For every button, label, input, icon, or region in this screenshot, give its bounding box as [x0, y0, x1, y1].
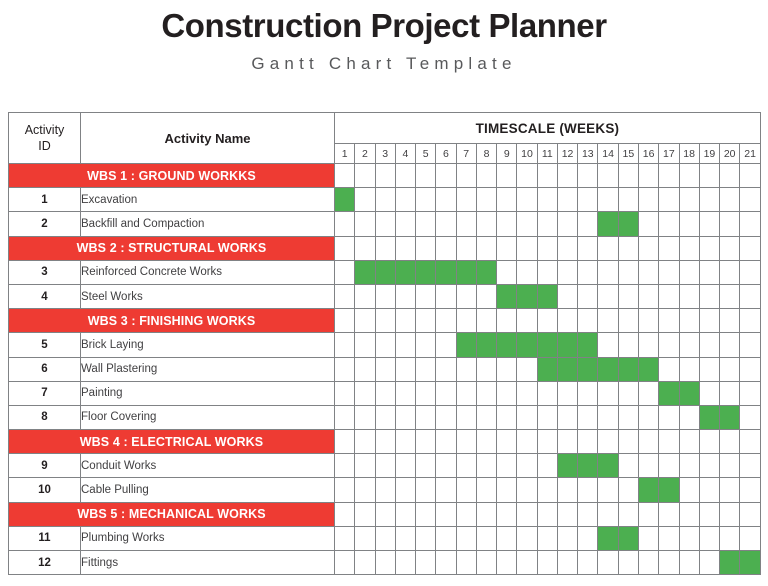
timeline-cell[interactable] [659, 405, 679, 429]
gantt-bar-cell[interactable] [679, 381, 699, 405]
timeline-cell[interactable] [517, 188, 537, 212]
timeline-cell[interactable] [740, 454, 761, 478]
timeline-cell[interactable] [456, 430, 476, 454]
gantt-bar-cell[interactable] [720, 551, 740, 575]
timeline-cell[interactable] [476, 381, 496, 405]
timeline-cell[interactable] [355, 381, 375, 405]
timeline-cell[interactable] [638, 502, 658, 526]
timeline-cell[interactable] [497, 164, 517, 188]
timeline-cell[interactable] [395, 430, 415, 454]
timeline-cell[interactable] [557, 260, 577, 284]
timeline-cell[interactable] [355, 212, 375, 236]
timeline-cell[interactable] [537, 260, 557, 284]
timeline-cell[interactable] [537, 212, 557, 236]
timeline-cell[interactable] [557, 502, 577, 526]
timeline-cell[interactable] [537, 551, 557, 575]
timeline-cell[interactable] [395, 188, 415, 212]
timeline-cell[interactable] [537, 430, 557, 454]
timeline-cell[interactable] [638, 236, 658, 260]
timeline-cell[interactable] [740, 381, 761, 405]
timeline-cell[interactable] [416, 333, 436, 357]
timeline-cell[interactable] [375, 551, 395, 575]
timeline-cell[interactable] [618, 478, 638, 502]
timeline-cell[interactable] [456, 212, 476, 236]
timeline-cell[interactable] [456, 357, 476, 381]
timeline-cell[interactable] [436, 284, 456, 308]
timeline-cell[interactable] [638, 212, 658, 236]
gantt-bar-cell[interactable] [476, 333, 496, 357]
timeline-cell[interactable] [375, 526, 395, 550]
timeline-cell[interactable] [618, 405, 638, 429]
timeline-cell[interactable] [416, 502, 436, 526]
timeline-cell[interactable] [720, 260, 740, 284]
timeline-cell[interactable] [476, 212, 496, 236]
timeline-cell[interactable] [497, 454, 517, 478]
timeline-cell[interactable] [476, 502, 496, 526]
timeline-cell[interactable] [355, 333, 375, 357]
timeline-cell[interactable] [456, 551, 476, 575]
timeline-cell[interactable] [720, 454, 740, 478]
timeline-cell[interactable] [598, 309, 618, 333]
timeline-cell[interactable] [618, 551, 638, 575]
timeline-cell[interactable] [740, 405, 761, 429]
timeline-cell[interactable] [355, 551, 375, 575]
timeline-cell[interactable] [557, 430, 577, 454]
gantt-bar-cell[interactable] [659, 478, 679, 502]
timeline-cell[interactable] [659, 502, 679, 526]
timeline-cell[interactable] [720, 284, 740, 308]
timeline-cell[interactable] [436, 357, 456, 381]
gantt-bar-cell[interactable] [638, 357, 658, 381]
gantt-bar-cell[interactable] [436, 260, 456, 284]
timeline-cell[interactable] [578, 212, 598, 236]
timeline-cell[interactable] [416, 164, 436, 188]
timeline-cell[interactable] [335, 381, 355, 405]
gantt-bar-cell[interactable] [517, 284, 537, 308]
timeline-cell[interactable] [517, 212, 537, 236]
timeline-cell[interactable] [335, 260, 355, 284]
timeline-cell[interactable] [395, 502, 415, 526]
timeline-cell[interactable] [740, 284, 761, 308]
timeline-cell[interactable] [375, 502, 395, 526]
gantt-bar-cell[interactable] [557, 333, 577, 357]
timeline-cell[interactable] [436, 502, 456, 526]
timeline-cell[interactable] [497, 405, 517, 429]
timeline-cell[interactable] [720, 236, 740, 260]
timeline-cell[interactable] [355, 188, 375, 212]
gantt-bar-cell[interactable] [537, 357, 557, 381]
timeline-cell[interactable] [578, 502, 598, 526]
timeline-cell[interactable] [638, 260, 658, 284]
timeline-cell[interactable] [740, 526, 761, 550]
gantt-bar-cell[interactable] [720, 405, 740, 429]
timeline-cell[interactable] [740, 333, 761, 357]
timeline-cell[interactable] [598, 284, 618, 308]
timeline-cell[interactable] [375, 454, 395, 478]
timeline-cell[interactable] [355, 430, 375, 454]
timeline-cell[interactable] [598, 260, 618, 284]
timeline-cell[interactable] [476, 236, 496, 260]
timeline-cell[interactable] [659, 430, 679, 454]
gantt-bar-cell[interactable] [740, 551, 761, 575]
timeline-cell[interactable] [598, 478, 618, 502]
timeline-cell[interactable] [557, 164, 577, 188]
timeline-cell[interactable] [618, 260, 638, 284]
timeline-cell[interactable] [679, 430, 699, 454]
timeline-cell[interactable] [699, 478, 719, 502]
timeline-cell[interactable] [740, 260, 761, 284]
timeline-cell[interactable] [638, 454, 658, 478]
timeline-cell[interactable] [557, 309, 577, 333]
timeline-cell[interactable] [436, 212, 456, 236]
timeline-cell[interactable] [416, 526, 436, 550]
timeline-cell[interactable] [497, 478, 517, 502]
timeline-cell[interactable] [578, 284, 598, 308]
timeline-cell[interactable] [416, 454, 436, 478]
timeline-cell[interactable] [557, 405, 577, 429]
timeline-cell[interactable] [395, 333, 415, 357]
timeline-cell[interactable] [699, 212, 719, 236]
timeline-cell[interactable] [497, 212, 517, 236]
timeline-cell[interactable] [679, 454, 699, 478]
timeline-cell[interactable] [335, 333, 355, 357]
timeline-cell[interactable] [436, 188, 456, 212]
timeline-cell[interactable] [395, 551, 415, 575]
timeline-cell[interactable] [578, 405, 598, 429]
timeline-cell[interactable] [456, 309, 476, 333]
timeline-cell[interactable] [638, 551, 658, 575]
timeline-cell[interactable] [618, 333, 638, 357]
timeline-cell[interactable] [659, 454, 679, 478]
timeline-cell[interactable] [517, 357, 537, 381]
timeline-cell[interactable] [537, 164, 557, 188]
timeline-cell[interactable] [537, 405, 557, 429]
timeline-cell[interactable] [659, 164, 679, 188]
timeline-cell[interactable] [578, 164, 598, 188]
gantt-bar-cell[interactable] [598, 454, 618, 478]
timeline-cell[interactable] [720, 309, 740, 333]
timeline-cell[interactable] [476, 284, 496, 308]
timeline-cell[interactable] [375, 309, 395, 333]
gantt-bar-cell[interactable] [335, 188, 355, 212]
timeline-cell[interactable] [395, 212, 415, 236]
timeline-cell[interactable] [497, 526, 517, 550]
timeline-cell[interactable] [497, 309, 517, 333]
gantt-bar-cell[interactable] [355, 260, 375, 284]
timeline-cell[interactable] [395, 309, 415, 333]
timeline-cell[interactable] [638, 333, 658, 357]
timeline-cell[interactable] [578, 260, 598, 284]
timeline-cell[interactable] [638, 381, 658, 405]
timeline-cell[interactable] [659, 357, 679, 381]
timeline-cell[interactable] [699, 284, 719, 308]
timeline-cell[interactable] [497, 236, 517, 260]
gantt-bar-cell[interactable] [416, 260, 436, 284]
timeline-cell[interactable] [456, 381, 476, 405]
timeline-cell[interactable] [740, 357, 761, 381]
timeline-cell[interactable] [456, 188, 476, 212]
timeline-cell[interactable] [659, 551, 679, 575]
timeline-cell[interactable] [618, 164, 638, 188]
timeline-cell[interactable] [436, 478, 456, 502]
timeline-cell[interactable] [679, 188, 699, 212]
timeline-cell[interactable] [557, 236, 577, 260]
gantt-bar-cell[interactable] [557, 357, 577, 381]
timeline-cell[interactable] [375, 381, 395, 405]
timeline-cell[interactable] [416, 309, 436, 333]
timeline-cell[interactable] [578, 430, 598, 454]
timeline-cell[interactable] [355, 357, 375, 381]
timeline-cell[interactable] [699, 260, 719, 284]
timeline-cell[interactable] [537, 309, 557, 333]
timeline-cell[interactable] [476, 164, 496, 188]
timeline-cell[interactable] [618, 284, 638, 308]
timeline-cell[interactable] [517, 430, 537, 454]
gantt-bar-cell[interactable] [638, 478, 658, 502]
timeline-cell[interactable] [679, 357, 699, 381]
timeline-cell[interactable] [517, 309, 537, 333]
timeline-cell[interactable] [720, 212, 740, 236]
timeline-cell[interactable] [517, 260, 537, 284]
timeline-cell[interactable] [557, 551, 577, 575]
timeline-cell[interactable] [416, 430, 436, 454]
timeline-cell[interactable] [456, 478, 476, 502]
timeline-cell[interactable] [517, 478, 537, 502]
timeline-cell[interactable] [638, 526, 658, 550]
timeline-cell[interactable] [375, 164, 395, 188]
timeline-cell[interactable] [416, 405, 436, 429]
timeline-cell[interactable] [416, 236, 436, 260]
timeline-cell[interactable] [335, 478, 355, 502]
gantt-bar-cell[interactable] [578, 454, 598, 478]
timeline-cell[interactable] [436, 551, 456, 575]
timeline-cell[interactable] [456, 454, 476, 478]
timeline-cell[interactable] [578, 381, 598, 405]
timeline-cell[interactable] [699, 188, 719, 212]
timeline-cell[interactable] [537, 478, 557, 502]
timeline-cell[interactable] [638, 188, 658, 212]
timeline-cell[interactable] [740, 212, 761, 236]
timeline-cell[interactable] [679, 502, 699, 526]
timeline-cell[interactable] [476, 405, 496, 429]
timeline-cell[interactable] [375, 430, 395, 454]
timeline-cell[interactable] [436, 333, 456, 357]
timeline-cell[interactable] [699, 526, 719, 550]
timeline-cell[interactable] [720, 357, 740, 381]
timeline-cell[interactable] [335, 551, 355, 575]
timeline-cell[interactable] [436, 381, 456, 405]
timeline-cell[interactable] [355, 284, 375, 308]
timeline-cell[interactable] [436, 164, 456, 188]
timeline-cell[interactable] [598, 164, 618, 188]
timeline-cell[interactable] [497, 381, 517, 405]
gantt-bar-cell[interactable] [578, 357, 598, 381]
timeline-cell[interactable] [557, 526, 577, 550]
gantt-bar-cell[interactable] [497, 284, 517, 308]
timeline-cell[interactable] [355, 405, 375, 429]
timeline-cell[interactable] [679, 236, 699, 260]
timeline-cell[interactable] [416, 188, 436, 212]
timeline-cell[interactable] [638, 430, 658, 454]
gantt-bar-cell[interactable] [598, 357, 618, 381]
timeline-cell[interactable] [355, 454, 375, 478]
timeline-cell[interactable] [355, 526, 375, 550]
timeline-cell[interactable] [720, 526, 740, 550]
timeline-cell[interactable] [659, 284, 679, 308]
timeline-cell[interactable] [375, 405, 395, 429]
timeline-cell[interactable] [679, 260, 699, 284]
timeline-cell[interactable] [436, 454, 456, 478]
timeline-cell[interactable] [335, 502, 355, 526]
timeline-cell[interactable] [456, 236, 476, 260]
timeline-cell[interactable] [476, 430, 496, 454]
timeline-cell[interactable] [375, 478, 395, 502]
timeline-cell[interactable] [456, 284, 476, 308]
timeline-cell[interactable] [476, 309, 496, 333]
timeline-cell[interactable] [476, 551, 496, 575]
timeline-cell[interactable] [659, 212, 679, 236]
timeline-cell[interactable] [679, 212, 699, 236]
gantt-bar-cell[interactable] [395, 260, 415, 284]
timeline-cell[interactable] [740, 188, 761, 212]
timeline-cell[interactable] [375, 212, 395, 236]
timeline-cell[interactable] [740, 236, 761, 260]
timeline-cell[interactable] [335, 164, 355, 188]
timeline-cell[interactable] [355, 164, 375, 188]
timeline-cell[interactable] [436, 430, 456, 454]
timeline-cell[interactable] [355, 478, 375, 502]
timeline-cell[interactable] [598, 551, 618, 575]
timeline-cell[interactable] [679, 284, 699, 308]
timeline-cell[interactable] [456, 526, 476, 550]
timeline-cell[interactable] [395, 381, 415, 405]
gantt-bar-cell[interactable] [618, 526, 638, 550]
timeline-cell[interactable] [476, 478, 496, 502]
gantt-bar-cell[interactable] [598, 212, 618, 236]
timeline-cell[interactable] [699, 454, 719, 478]
timeline-cell[interactable] [578, 309, 598, 333]
timeline-cell[interactable] [517, 405, 537, 429]
gantt-bar-cell[interactable] [537, 333, 557, 357]
timeline-cell[interactable] [335, 526, 355, 550]
timeline-cell[interactable] [720, 164, 740, 188]
timeline-cell[interactable] [638, 309, 658, 333]
timeline-cell[interactable] [720, 478, 740, 502]
timeline-cell[interactable] [699, 381, 719, 405]
timeline-cell[interactable] [395, 405, 415, 429]
timeline-cell[interactable] [537, 526, 557, 550]
timeline-cell[interactable] [618, 236, 638, 260]
timeline-cell[interactable] [395, 284, 415, 308]
timeline-cell[interactable] [456, 164, 476, 188]
timeline-cell[interactable] [497, 357, 517, 381]
timeline-cell[interactable] [659, 188, 679, 212]
timeline-cell[interactable] [557, 212, 577, 236]
timeline-cell[interactable] [699, 164, 719, 188]
timeline-cell[interactable] [740, 478, 761, 502]
timeline-cell[interactable] [416, 551, 436, 575]
timeline-cell[interactable] [517, 236, 537, 260]
timeline-cell[interactable] [456, 405, 476, 429]
timeline-cell[interactable] [699, 236, 719, 260]
gantt-bar-cell[interactable] [578, 333, 598, 357]
timeline-cell[interactable] [375, 357, 395, 381]
timeline-cell[interactable] [618, 430, 638, 454]
timeline-cell[interactable] [416, 381, 436, 405]
timeline-cell[interactable] [578, 526, 598, 550]
timeline-cell[interactable] [679, 164, 699, 188]
timeline-cell[interactable] [335, 236, 355, 260]
timeline-cell[interactable] [375, 333, 395, 357]
timeline-cell[interactable] [699, 357, 719, 381]
timeline-cell[interactable] [618, 309, 638, 333]
timeline-cell[interactable] [557, 478, 577, 502]
timeline-cell[interactable] [557, 284, 577, 308]
timeline-cell[interactable] [517, 381, 537, 405]
timeline-cell[interactable] [699, 430, 719, 454]
timeline-cell[interactable] [598, 502, 618, 526]
timeline-cell[interactable] [436, 405, 456, 429]
gantt-bar-cell[interactable] [659, 381, 679, 405]
timeline-cell[interactable] [416, 357, 436, 381]
timeline-cell[interactable] [497, 551, 517, 575]
timeline-cell[interactable] [416, 284, 436, 308]
timeline-cell[interactable] [517, 164, 537, 188]
timeline-cell[interactable] [497, 502, 517, 526]
timeline-cell[interactable] [517, 454, 537, 478]
gantt-bar-cell[interactable] [375, 260, 395, 284]
timeline-cell[interactable] [578, 478, 598, 502]
timeline-cell[interactable] [517, 551, 537, 575]
timeline-cell[interactable] [659, 309, 679, 333]
timeline-cell[interactable] [517, 526, 537, 550]
timeline-cell[interactable] [720, 430, 740, 454]
timeline-cell[interactable] [679, 333, 699, 357]
timeline-cell[interactable] [740, 502, 761, 526]
timeline-cell[interactable] [416, 212, 436, 236]
timeline-cell[interactable] [355, 236, 375, 260]
timeline-cell[interactable] [578, 551, 598, 575]
timeline-cell[interactable] [335, 430, 355, 454]
gantt-bar-cell[interactable] [476, 260, 496, 284]
timeline-cell[interactable] [598, 188, 618, 212]
timeline-cell[interactable] [638, 284, 658, 308]
timeline-cell[interactable] [395, 236, 415, 260]
timeline-cell[interactable] [335, 454, 355, 478]
timeline-cell[interactable] [436, 526, 456, 550]
timeline-cell[interactable] [497, 430, 517, 454]
timeline-cell[interactable] [699, 309, 719, 333]
timeline-cell[interactable] [720, 381, 740, 405]
gantt-bar-cell[interactable] [598, 526, 618, 550]
timeline-cell[interactable] [618, 454, 638, 478]
timeline-cell[interactable] [416, 478, 436, 502]
timeline-cell[interactable] [476, 357, 496, 381]
timeline-cell[interactable] [740, 164, 761, 188]
timeline-cell[interactable] [720, 188, 740, 212]
timeline-cell[interactable] [659, 333, 679, 357]
timeline-cell[interactable] [395, 357, 415, 381]
timeline-cell[interactable] [436, 309, 456, 333]
timeline-cell[interactable] [537, 502, 557, 526]
timeline-cell[interactable] [659, 526, 679, 550]
timeline-cell[interactable] [395, 164, 415, 188]
timeline-cell[interactable] [720, 333, 740, 357]
timeline-cell[interactable] [659, 236, 679, 260]
timeline-cell[interactable] [699, 551, 719, 575]
timeline-cell[interactable] [598, 430, 618, 454]
timeline-cell[interactable] [598, 405, 618, 429]
